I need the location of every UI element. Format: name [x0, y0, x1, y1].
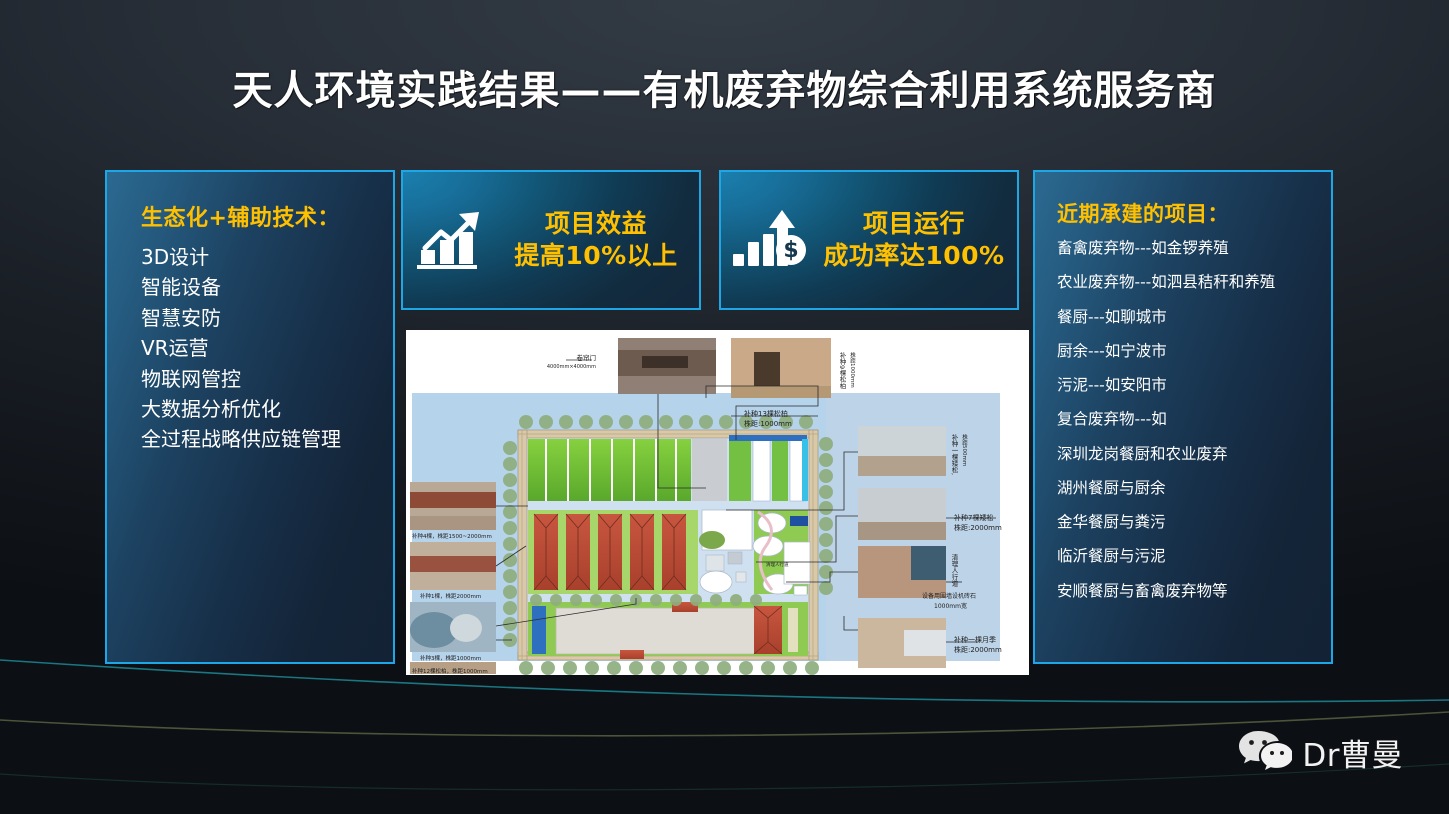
- svg-text:补种4棵，株距1500~2000mm: 补种4棵，株距1500~2000mm: [412, 532, 492, 540]
- svg-text:清理人行道: 清理人行道: [950, 553, 958, 588]
- watermark: Dr曹曼: [1238, 729, 1403, 776]
- svg-text:补种9棵松柏: 补种9棵松柏: [838, 351, 846, 390]
- svg-text:4000mm×4000mm: 4000mm×4000mm: [547, 364, 596, 370]
- svg-text:$: $: [783, 238, 798, 263]
- project-item-agricultural-waste: 农业废弃物---如泗县秸秆和养殖: [1057, 274, 1331, 290]
- bar-chart-growth-arrow-icon: [403, 208, 501, 272]
- project-item-linyi: 临沂餐厨与污泥: [1057, 548, 1331, 564]
- svg-text:补种一棵矮松,: 补种一棵矮松,: [950, 433, 958, 475]
- stat-card-project-success: $ 项目运行 成功率达100%: [719, 170, 1019, 310]
- svg-text:清理人行道: 清理人行道: [766, 561, 789, 568]
- tech-panel-heading: 生态化+辅助技术：: [141, 200, 393, 232]
- project-item-shenzhen-longgang: 深圳龙岗餐厨和农业废弃: [1057, 446, 1331, 462]
- svg-text:补种12棵松柏，株距1000mm: 补种12棵松柏，株距1000mm: [412, 667, 488, 675]
- site-plan-image: 卷帘门 4000mm×4000mm 补种9棵松柏 株距1000mm 补种13棵松…: [406, 330, 1029, 675]
- stat-card-project-benefit: 项目效益 提高10%以上: [401, 170, 701, 310]
- tech-item-vr-operation: VR运营: [141, 333, 393, 363]
- project-item-sludge-anyang: 污泥---如安阳市: [1057, 377, 1331, 393]
- svg-text:株距1000mm: 株距1000mm: [849, 351, 856, 388]
- tech-item-smart-equipment: 智能设备: [141, 272, 393, 302]
- wechat-icon: [1238, 729, 1292, 776]
- projects-panel-heading: 近期承建的项目：: [1057, 198, 1331, 228]
- bar-chart-arrow-dollar-icon: $: [721, 208, 819, 272]
- stat-card-success-line2: 成功率达100%: [819, 240, 1009, 272]
- svg-text:补种7棵矮松: 补种7棵矮松: [954, 513, 993, 522]
- svg-text:设备用围墙设机砖石: 设备用围墙设机砖石: [922, 592, 976, 600]
- svg-text:补种一棵月季: 补种一棵月季: [954, 635, 996, 644]
- project-item-anshun: 安顺餐厨与畜禽废弃物等: [1057, 583, 1331, 599]
- project-item-jinhua: 金华餐厨与粪污: [1057, 514, 1331, 530]
- project-item-huzhou: 湖州餐厨与厨余: [1057, 480, 1331, 496]
- watermark-label: Dr曹曼: [1302, 730, 1403, 775]
- svg-text:补种13棵松柏: 补种13棵松柏: [744, 409, 788, 418]
- project-item-kitchen-liaocheng: 餐厨---如聊城市: [1057, 309, 1331, 325]
- svg-text:株距500mm: 株距500mm: [961, 433, 968, 466]
- svg-text:1000mm宽: 1000mm宽: [934, 602, 967, 610]
- svg-text:卷帘门: 卷帘门: [577, 353, 597, 362]
- svg-text:株距:1000mm: 株距:1000mm: [744, 419, 792, 428]
- page-title: 天人环境实践结果——有机废弃物综合利用系统服务商: [0, 58, 1449, 116]
- slide-root: 天人环境实践结果——有机废弃物综合利用系统服务商 生态化+辅助技术： 3D设计 …: [0, 0, 1449, 814]
- stat-card-benefit-text: 项目效益 提高10%以上: [501, 208, 699, 272]
- tech-item-supply-chain: 全过程战略供应链管理: [141, 424, 393, 454]
- stat-card-success-line1: 项目运行: [819, 208, 1009, 240]
- stat-card-benefit-line2: 提高10%以上: [501, 240, 691, 272]
- svg-text:株距:2000mm: 株距:2000mm: [954, 645, 1002, 654]
- tech-item-3d-design: 3D设计: [141, 242, 393, 272]
- tech-panel: 生态化+辅助技术： 3D设计 智能设备 智慧安防 VR运营 物联网管控 大数据分…: [105, 170, 395, 664]
- project-item-livestock-waste: 畜禽废弃物---如金锣养殖: [1057, 240, 1331, 256]
- tech-item-big-data: 大数据分析优化: [141, 394, 393, 424]
- tech-item-smart-security: 智慧安防: [141, 303, 393, 333]
- svg-text:补种1棵，株距2000mm: 补种1棵，株距2000mm: [420, 592, 481, 600]
- tech-item-iot-control: 物联网管控: [141, 364, 393, 394]
- stat-card-success-text: 项目运行 成功率达100%: [819, 208, 1017, 272]
- project-item-foodwaste-ningbo: 厨余---如宁波市: [1057, 343, 1331, 359]
- projects-panel: 近期承建的项目： 畜禽废弃物---如金锣养殖 农业废弃物---如泗县秸秆和养殖 …: [1033, 170, 1333, 664]
- svg-text:株距:2000mm: 株距:2000mm: [954, 523, 1002, 532]
- project-item-composite-waste: 复合废弃物---如: [1057, 411, 1331, 427]
- stat-card-benefit-line1: 项目效益: [501, 208, 691, 240]
- svg-text:补种3棵，株距1000mm: 补种3棵，株距1000mm: [420, 654, 481, 662]
